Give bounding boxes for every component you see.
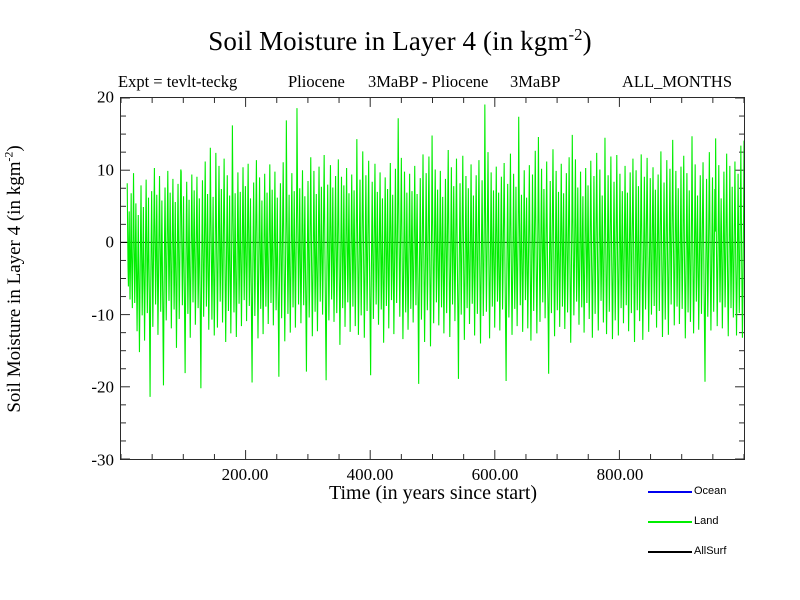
subtitle-item-difference: 3MaBP - Pliocene [368,72,488,92]
subtitle-item-pliocene: Pliocene [288,72,345,92]
subtitle-row: Expt = tevlt-teckg Pliocene 3MaBP - Plio… [118,72,758,94]
y-axis-title-text: Soil Moisture in Layer 4 (in kgm [4,161,25,412]
y-axis-title: Soil Moisture in Layer 4 (in kgm-2) [4,145,26,412]
legend-label-ocean: Ocean [694,484,726,498]
plot-area [120,97,745,460]
legend-label-allsurf: AllSurf [694,544,726,558]
legend-swatch-ocean [648,491,692,493]
x-axis-tick-label: 400.00 [347,466,394,483]
subtitle-item-months: ALL_MONTHS [622,72,732,92]
plot-page: Soil Moisture in Layer 4 (in kgm-2) Expt… [0,0,800,600]
legend-swatch-land [648,521,692,523]
legend-swatch-allsurf [648,551,692,553]
subtitle-experiment: Expt = tevlt-teckg [118,72,237,92]
y-axis-title-superscript: -2 [3,151,16,161]
legend-item-land[interactable]: Land [648,514,798,530]
y-axis-tick-label: 20 [62,89,114,106]
legend-item-allsurf[interactable]: AllSurf [648,544,798,560]
y-axis-title-suffix: ) [4,145,25,151]
legend-item-ocean[interactable]: Ocean [648,484,798,500]
subtitle-item-3mabp: 3MaBP [510,72,560,92]
y-axis-title-wrapper: Soil Moisture in Layer 4 (in kgm-2) [0,97,30,460]
legend: OceanLandAllSurf [648,484,798,564]
x-axis-tick-label: 600.00 [472,466,519,483]
x-axis-tick-label: 200.00 [222,466,269,483]
y-axis-tick-label: -10 [62,306,114,323]
x-axis-tick-label: 800.00 [597,466,644,483]
legend-label-land: Land [694,514,718,528]
y-axis-tick-label: 0 [62,234,114,251]
data-series-land [127,104,744,396]
page-title-suffix: ) [583,26,592,56]
y-axis-tick-labels: 20100-10-20-30 [58,97,114,460]
y-axis-tick-label: -20 [62,379,114,396]
y-axis-tick-label: 10 [62,161,114,178]
page-title: Soil Moisture in Layer 4 (in kgm-2) [0,26,800,57]
page-title-text: Soil Moisture in Layer 4 (in kgm [208,26,568,56]
page-title-superscript: -2 [568,25,582,44]
plot-canvas [121,98,744,459]
